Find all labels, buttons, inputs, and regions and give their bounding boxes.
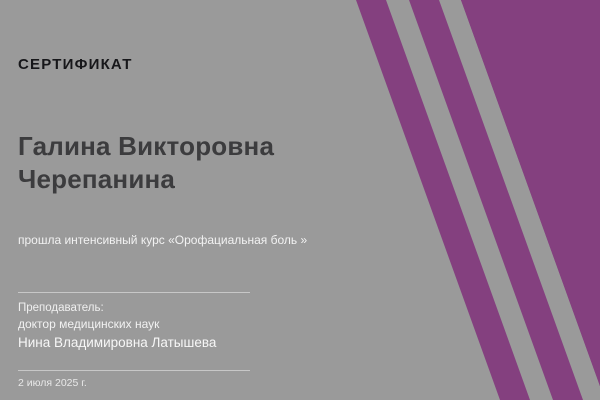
course-description: прошла интенсивный курс «Орофациальная б…	[18, 232, 358, 248]
divider-above-date	[18, 370, 250, 371]
instructor-degree: доктор медицинских наук	[18, 316, 318, 333]
instructor-name: Нина Владимировна Латышева	[18, 333, 318, 352]
stripe-1	[356, 0, 530, 400]
divider-above-instructor	[18, 292, 250, 293]
stripe-2	[409, 0, 583, 400]
recipient-name: Галина Викторовна Черепанина	[18, 130, 348, 196]
stripe-3	[461, 0, 600, 400]
instructor-block: Преподаватель: доктор медицинских наук Н…	[18, 300, 318, 352]
certificate-content: СЕРТИФИКАТ Галина Викторовна Черепанина …	[18, 0, 358, 400]
instructor-role-label: Преподаватель:	[18, 300, 318, 316]
stripe-corner-field	[461, 0, 600, 320]
stripe-3-field	[461, 0, 600, 400]
page-title: СЕРТИФИКАТ	[18, 56, 133, 73]
issue-date: 2 июля 2025 г.	[18, 376, 87, 390]
certificate-card: СЕРТИФИКАТ Галина Викторовна Черепанина …	[0, 0, 600, 400]
